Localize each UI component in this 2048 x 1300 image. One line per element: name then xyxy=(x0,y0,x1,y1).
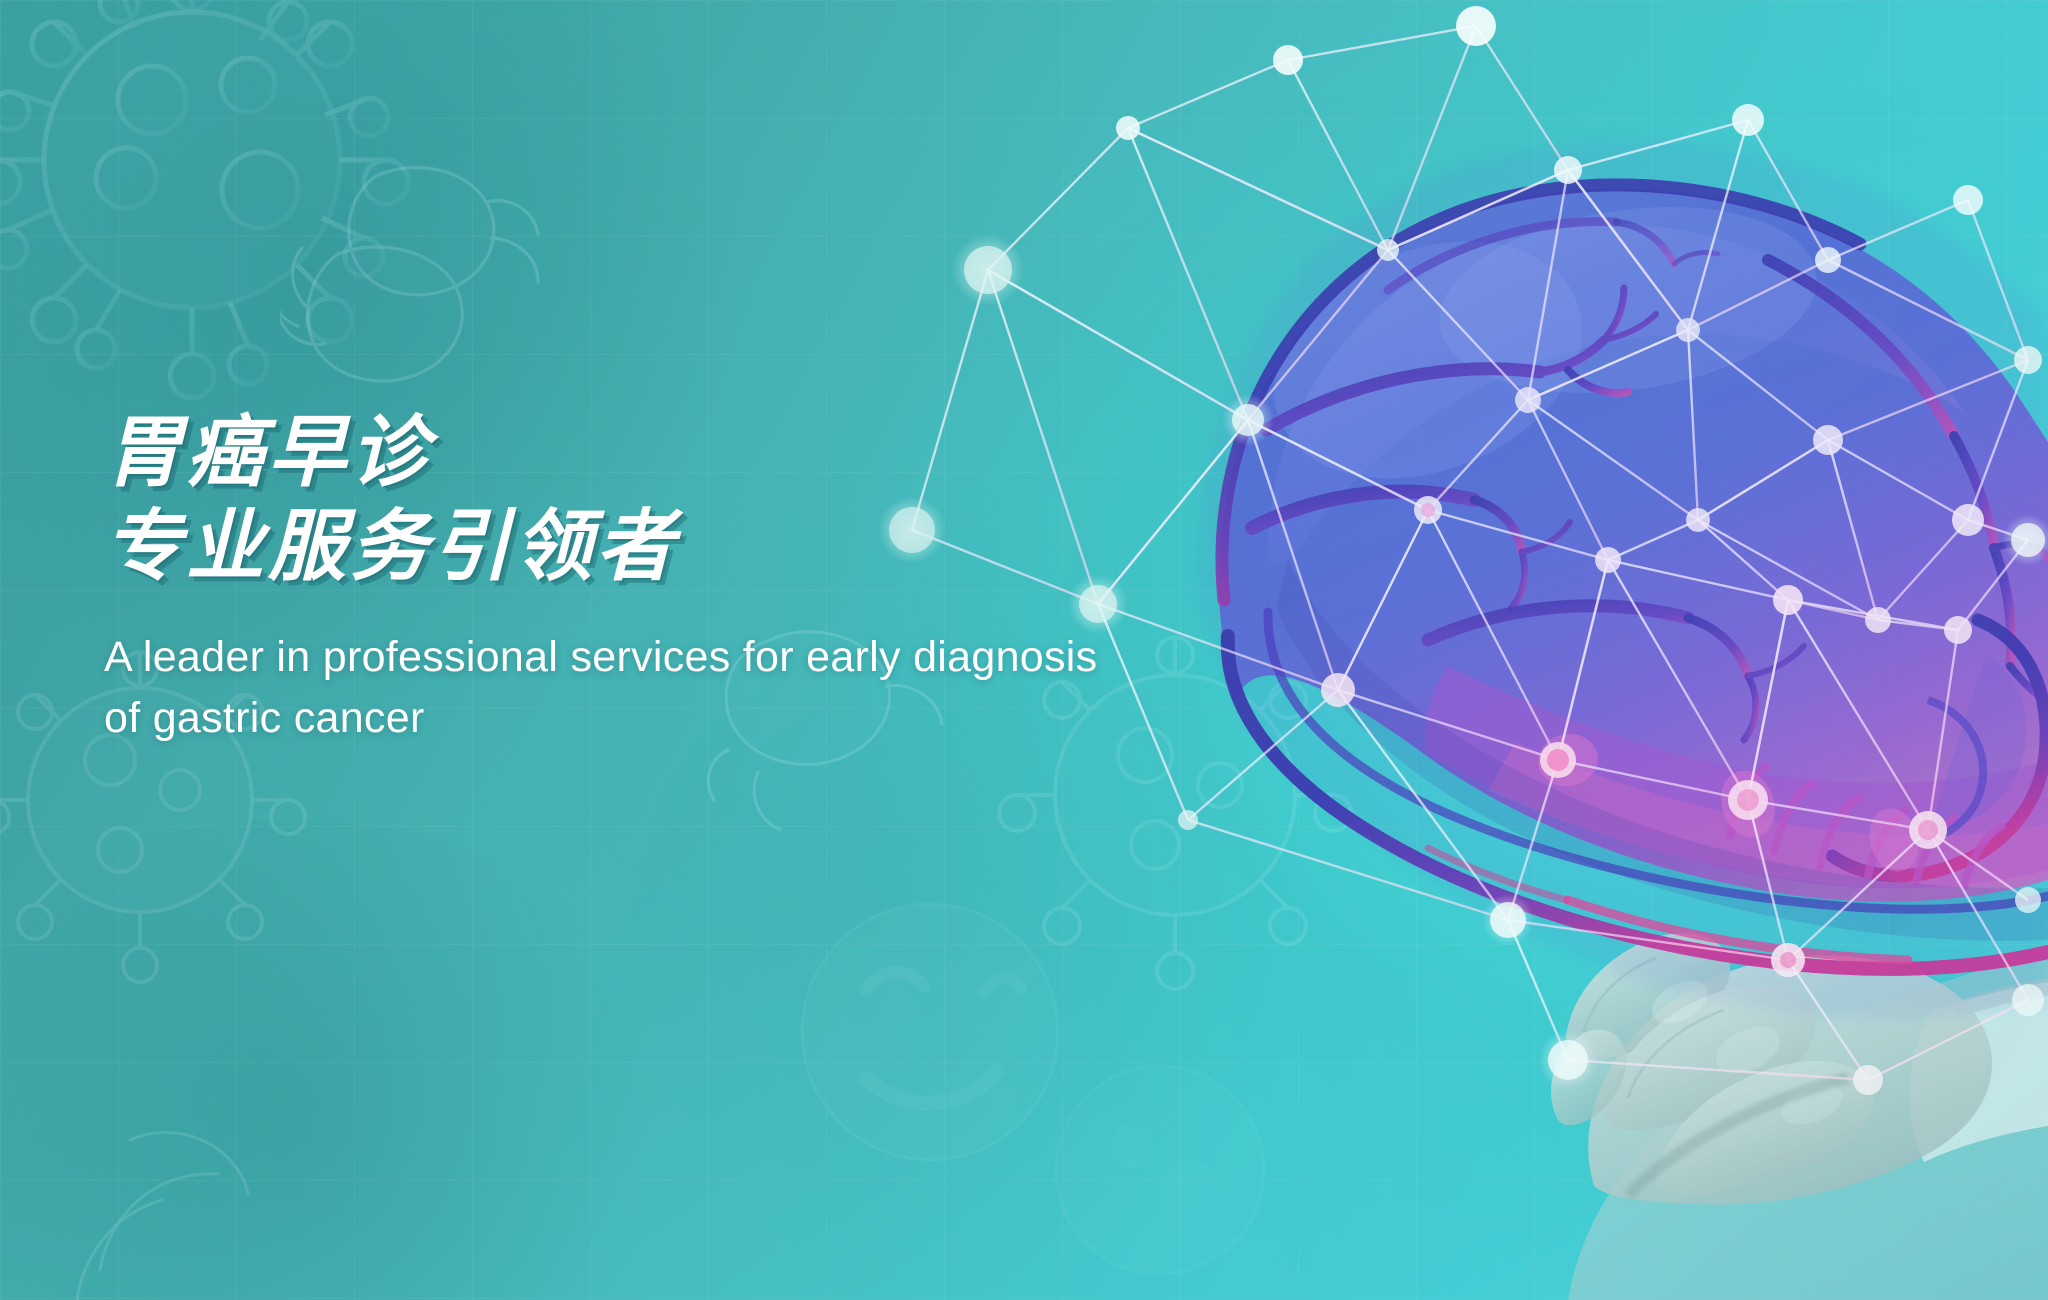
cell-watermark-bottom-center xyxy=(770,880,1090,1180)
duodenum-section xyxy=(1832,620,2046,876)
stomach-illustration xyxy=(1197,141,2048,1018)
bacteria-watermark-upper-left xyxy=(280,130,610,430)
bacteria-watermark-bottom-left xyxy=(0,1080,320,1300)
light-blotch-bottom-left xyxy=(0,820,700,1300)
headline-block: 胃癌早诊 专业服务引领者 A leader in professional se… xyxy=(104,408,1104,749)
light-blotch-top-center xyxy=(880,0,1580,440)
cell-watermark-bottom-right xyxy=(1040,1050,1280,1290)
virus-watermark-top-left xyxy=(0,0,450,410)
light-blotch-right xyxy=(1180,120,2048,1120)
headline-line-1: 胃癌早诊 xyxy=(104,408,1104,498)
headline-line-2: 专业服务引领者 xyxy=(104,502,1104,592)
open-hand-holding-organ xyxy=(1551,933,2048,1300)
banner-root: 胃癌早诊 专业服务引领者 A leader in professional se… xyxy=(0,0,2048,1300)
subheadline: A leader in professional services for ea… xyxy=(104,627,1104,749)
network-nodes-accent xyxy=(1421,503,1938,968)
